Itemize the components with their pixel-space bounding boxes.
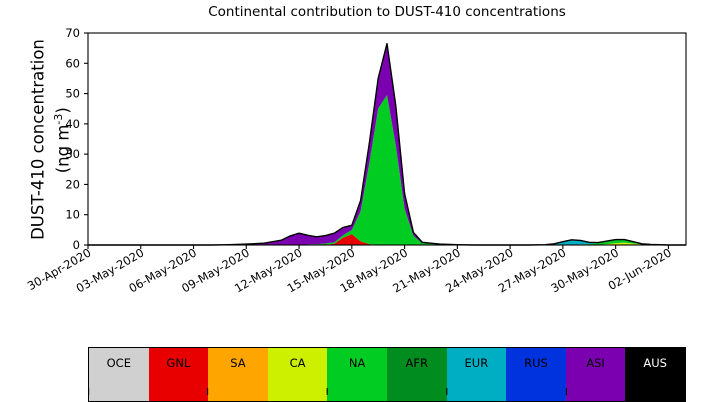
chart-figure: Continental contribution to DUST-410 con… — [0, 0, 721, 402]
legend-label-asi: ASI — [586, 348, 605, 370]
legend-label-aus: AUS — [643, 348, 667, 370]
legend-label-sa: SA — [230, 348, 245, 370]
legend-label-gnl: GNL — [166, 348, 190, 370]
y-tick-label: 30 — [65, 147, 80, 161]
legend-label-afr: AFR — [406, 348, 428, 370]
legend-label-oce: OCE — [107, 348, 131, 370]
legend-label-eur: EUR — [465, 348, 489, 370]
legend-tickmarks — [88, 388, 686, 402]
y-tick-label: 40 — [65, 117, 80, 131]
y-tick-label: 10 — [65, 208, 80, 222]
y-tick-label: 20 — [65, 177, 80, 191]
stacked-areas — [88, 44, 686, 245]
y-axis-ticks: 010203040506070 — [65, 26, 88, 252]
x-axis-ticks: 30-Apr-202003-May-202006-May-202009-May-… — [25, 245, 674, 295]
y-tick-label: 70 — [65, 26, 80, 40]
legend-label-ca: CA — [290, 348, 306, 370]
y-tick-label: 50 — [65, 87, 80, 101]
y-tick-label: 60 — [65, 56, 80, 70]
plot-area: 010203040506070 30-Apr-202003-May-202006… — [0, 0, 721, 347]
legend-label-na: NA — [349, 348, 365, 370]
area-series-na — [88, 95, 686, 245]
legend-label-rus: RUS — [524, 348, 548, 370]
